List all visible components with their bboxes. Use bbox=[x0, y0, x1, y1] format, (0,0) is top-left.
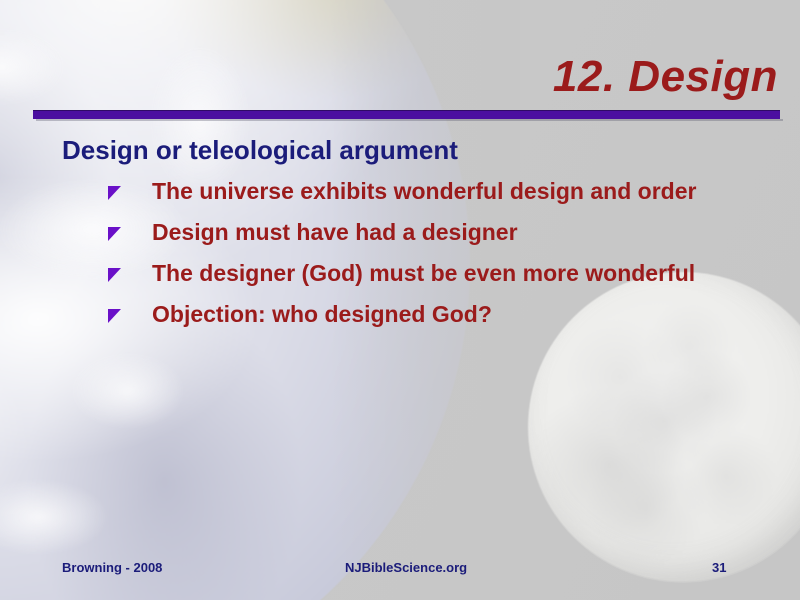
triangle-bullet-icon bbox=[108, 227, 122, 242]
slide-canvas: 12. Design Design or teleological argume… bbox=[0, 0, 800, 600]
triangle-bullet-icon bbox=[108, 268, 122, 283]
list-item: The universe exhibits wonderful design a… bbox=[108, 178, 798, 205]
title-divider-bar bbox=[33, 110, 780, 119]
triangle-bullet-icon bbox=[108, 309, 122, 324]
footer-page-number: 31 bbox=[712, 560, 726, 575]
list-item: The designer (God) must be even more won… bbox=[108, 260, 798, 287]
bullet-text: The universe exhibits wonderful design a… bbox=[152, 178, 696, 205]
title-divider bbox=[33, 110, 780, 121]
bullet-text: Objection: who designed God? bbox=[152, 301, 492, 328]
triangle-bullet-icon bbox=[108, 186, 122, 201]
slide-footer: Browning - 2008 NJBibleScience.org 31 bbox=[0, 560, 800, 578]
footer-author: Browning - 2008 bbox=[62, 560, 162, 575]
list-item: Design must have had a designer bbox=[108, 219, 798, 246]
title-divider-shadow bbox=[36, 119, 783, 121]
footer-site: NJBibleScience.org bbox=[345, 560, 467, 575]
content-heading: Design or teleological argument bbox=[62, 135, 458, 166]
bullet-text: Design must have had a designer bbox=[152, 219, 518, 246]
list-item: Objection: who designed God? bbox=[108, 301, 798, 328]
slide-title: 12. Design bbox=[553, 52, 778, 102]
bullet-list: The universe exhibits wonderful design a… bbox=[108, 178, 798, 343]
bullet-text: The designer (God) must be even more won… bbox=[152, 260, 695, 287]
